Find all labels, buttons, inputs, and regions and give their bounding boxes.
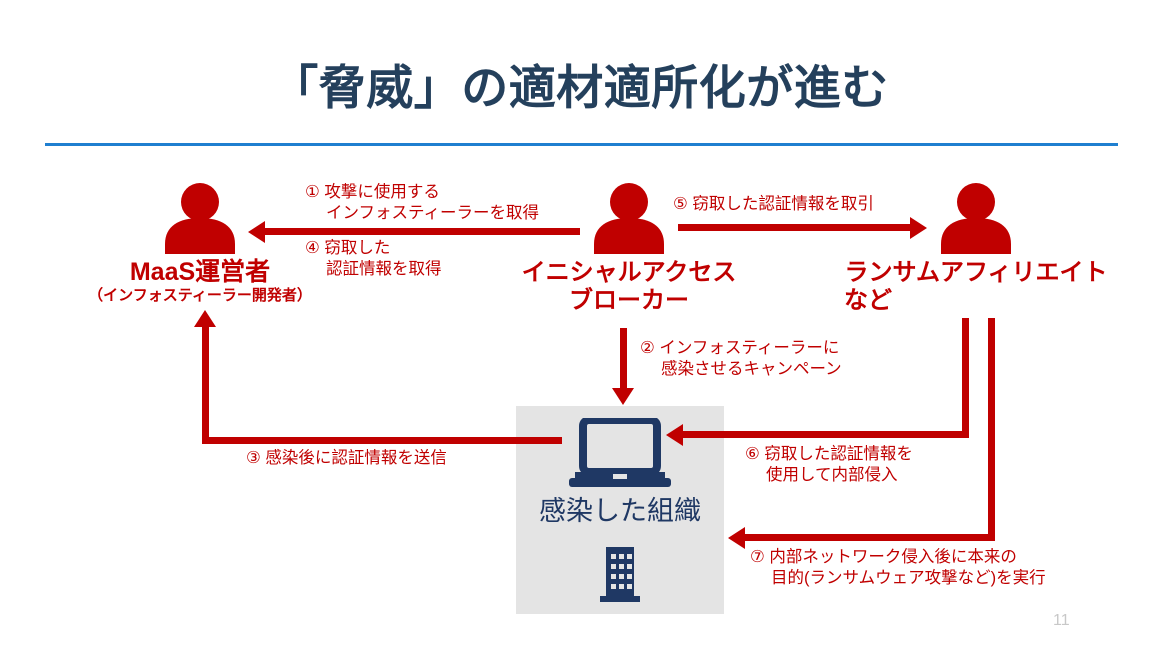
flow-arrow-7-horizontal	[745, 534, 995, 541]
flow-arrow-2	[620, 328, 627, 390]
person-icon	[584, 182, 674, 254]
actor-label-initial-access-broker: イニシャルアクセス ブローカー	[479, 259, 779, 315]
actor-subtitle: （インフォスティーラー開発者）	[40, 287, 360, 304]
flow-arrow-1-4	[265, 228, 580, 235]
flow-label-line1: ② インフォスティーラーに	[640, 339, 839, 357]
flow-label-line1: ⑥ 窃取した認証情報を	[745, 445, 913, 463]
flow-label-3: ③ 感染後に認証情報を送信	[246, 448, 447, 469]
page-number: 11	[1053, 612, 1070, 630]
flow-arrow-5	[678, 224, 910, 231]
flow-label-line2: 認証情報を取得	[305, 259, 442, 280]
flow-label-line2: 目的(ランサムウェア攻撃など)を実行	[750, 568, 1046, 589]
flow-label-line1: ③ 感染後に認証情報を送信	[246, 449, 447, 467]
laptop-icon	[567, 418, 673, 490]
actor-label-ransom-affiliate: ランサムアフィリエイト など	[826, 259, 1126, 315]
flow-arrow-6-vertical	[962, 318, 969, 438]
arrow-head-down	[612, 388, 634, 405]
flow-label-line2: 使用して内部侵入	[745, 465, 913, 486]
flow-label-1: ① 攻撃に使用する インフォスティーラーを取得	[305, 182, 539, 224]
flow-label-7: ⑦ 内部ネットワーク侵入後に本来の 目的(ランサムウェア攻撃など)を実行	[750, 547, 1046, 589]
flow-label-line1: ⑦ 内部ネットワーク侵入後に本来の	[750, 548, 1017, 566]
actor-name-line1: ランサムアフィリエイト	[844, 259, 1107, 286]
flow-label-2: ② インフォスティーラーに 感染させるキャンペーン	[640, 338, 842, 380]
actor-name-line1: イニシャルアクセス	[522, 259, 737, 286]
flow-label-5: ⑤ 窃取した認証情報を取引	[673, 194, 874, 215]
person-icon	[155, 182, 245, 254]
arrow-head-left	[248, 221, 265, 243]
building-icon	[598, 545, 642, 603]
actor-name-line2: ブローカー	[479, 287, 779, 315]
page-title: 「脅威」の適材適所化が進む	[0, 62, 1160, 114]
arrow-head-left	[666, 424, 683, 446]
arrow-head-right	[910, 217, 927, 239]
actor-name-line2: など	[826, 287, 1126, 315]
flow-arrow-3-horizontal	[202, 437, 562, 444]
arrow-head-up	[194, 310, 216, 327]
flow-label-line2: インフォスティーラーを取得	[305, 203, 539, 224]
flow-label-line1: ⑤ 窃取した認証情報を取引	[673, 195, 874, 213]
flow-arrow-6-horizontal	[683, 431, 969, 438]
arrow-head-left	[728, 527, 745, 549]
flow-label-line2: 感染させるキャンペーン	[640, 359, 842, 380]
flow-label-4: ④ 窃取した 認証情報を取得	[305, 238, 442, 280]
flow-label-6: ⑥ 窃取した認証情報を 使用して内部侵入	[745, 444, 913, 486]
flow-arrow-3-vertical	[202, 325, 209, 442]
flow-label-line1: ① 攻撃に使用する	[305, 183, 440, 201]
actor-name: MaaS運営者	[130, 258, 270, 286]
infected-organization-label: 感染した組織	[516, 489, 724, 528]
title-divider	[45, 143, 1118, 146]
person-icon	[931, 182, 1021, 254]
flow-label-line1: ④ 窃取した	[305, 239, 390, 257]
flow-arrow-7-vertical	[988, 318, 995, 540]
